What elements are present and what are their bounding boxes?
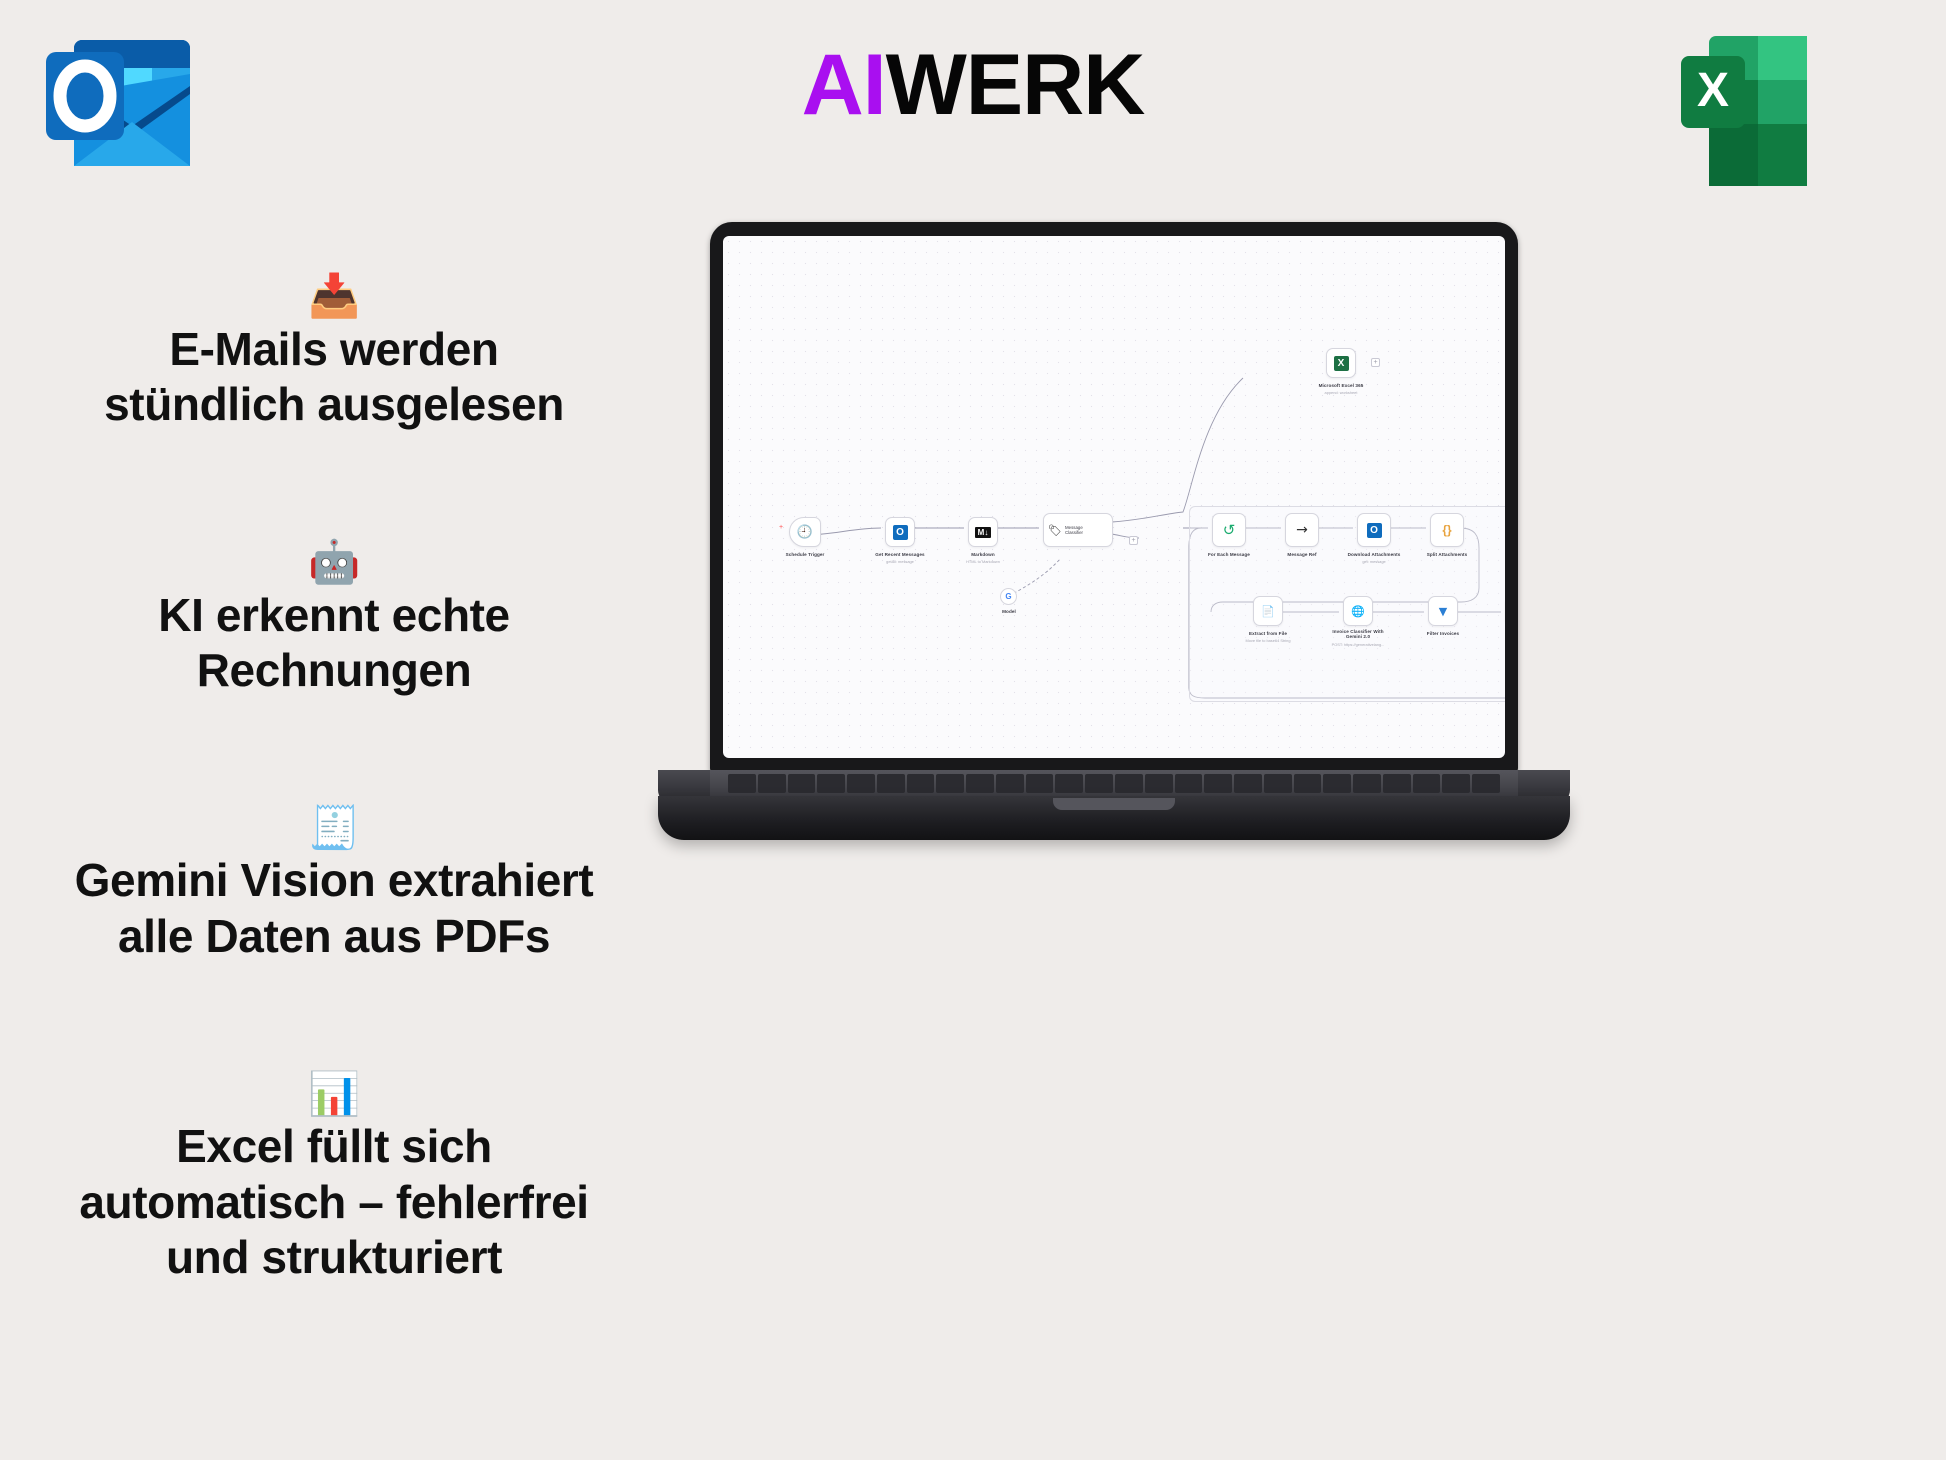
globe-icon: 🌐 (1351, 606, 1365, 617)
inbox-tray-emoji: 📥 (308, 271, 360, 320)
google-gemini-icon: G (1005, 592, 1011, 601)
node-markdown[interactable]: M↓ (968, 517, 998, 547)
feature-bullet-list: 📥 E-Mails werden stündlich ausgelesen 🤖 … (14, 208, 654, 1327)
list-item: 📥 E-Mails werden stündlich ausgelesen (14, 208, 654, 432)
node-label: Filter Invoices (1427, 631, 1459, 636)
node-label: Extract from File (1249, 631, 1287, 636)
laptop-lid: + 🕘 Schedule Trigger Get Recent Messages… (710, 222, 1518, 774)
title-rest: WERK (886, 37, 1145, 133)
node-label: Microsoft Excel 365 (1319, 383, 1364, 388)
node-filter-invoices[interactable]: ▼ (1428, 596, 1458, 626)
node-invoice-classifier-gemini[interactable]: 🌐 (1343, 596, 1373, 626)
add-node-button[interactable]: + (1129, 536, 1138, 545)
node-download-attachments[interactable] (1357, 513, 1391, 547)
node-label: Get Recent Messages (875, 552, 924, 557)
bullet-text: KI erkennt echte Rechnungen (158, 589, 510, 696)
outlook-icon (1367, 523, 1382, 538)
trigger-plus-marker: + (779, 524, 783, 531)
title-accent: AI (802, 37, 886, 133)
node-label: Model (1002, 609, 1016, 614)
markdown-icon: M↓ (975, 527, 992, 538)
node-label: Schedule Trigger (786, 552, 825, 557)
laptop-screen: + 🕘 Schedule Trigger Get Recent Messages… (723, 236, 1505, 758)
node-extract-from-file[interactable]: 📄 (1253, 596, 1283, 626)
bar-chart-emoji: 📊 (308, 1069, 360, 1118)
code-braces-icon: {} (1442, 523, 1451, 537)
macbook-mockup: + 🕘 Schedule Trigger Get Recent Messages… (658, 222, 1570, 862)
node-sublabel: getAll: message (886, 559, 914, 564)
node-sublabel: get: message (1362, 559, 1385, 564)
node-sublabel: append: worksheet (1325, 390, 1358, 395)
node-get-recent-messages[interactable] (885, 517, 915, 547)
receipt-emoji: 🧾 (308, 803, 360, 852)
node-microsoft-excel-365[interactable]: X (1326, 348, 1356, 378)
tag-icon: 🏷 (1048, 525, 1062, 536)
node-label: Split Attachments (1427, 552, 1468, 557)
laptop-notch (1060, 222, 1168, 235)
laptop-trackpad-notch (1053, 798, 1175, 810)
list-item: 🧾 Gemini Vision extrahiert alle Daten au… (14, 740, 654, 964)
node-sublabel: POST: https://generativelang... (1332, 642, 1385, 647)
list-item: 🤖 KI erkennt echte Rechnungen (14, 474, 654, 698)
bullet-text: Gemini Vision extrahiert alle Daten aus … (75, 854, 594, 961)
node-label: Download Attachments (1348, 552, 1401, 557)
keyboard-keys (728, 774, 1500, 793)
node-message-classifier[interactable]: 🏷 Message Classifier (1043, 513, 1113, 547)
node-for-each-message[interactable]: ↺ (1212, 513, 1246, 547)
clock-icon: 🕘 (797, 526, 813, 539)
arrow-right-icon: → (1296, 523, 1308, 537)
outlook-icon (893, 525, 908, 540)
bullet-text: Excel füllt sich automatisch – fehlerfre… (79, 1120, 588, 1282)
node-label: Markdown (971, 552, 995, 557)
node-label: Message Ref (1287, 552, 1316, 557)
node-model[interactable]: G (1000, 588, 1017, 605)
node-label: For Each Message (1208, 552, 1250, 557)
node-split-attachments[interactable]: {} (1430, 513, 1464, 547)
add-node-button[interactable]: + (1371, 358, 1380, 367)
node-sublabel: Move file to base64 String (1246, 638, 1291, 643)
list-item: 📊 Excel füllt sich automatisch – fehlerf… (14, 1006, 654, 1285)
excel-icon: X (1334, 356, 1349, 371)
bullet-text: E-Mails werden stündlich ausgelesen (104, 323, 564, 430)
file-icon: 📄 (1261, 606, 1275, 617)
filter-icon: ▼ (1439, 606, 1447, 617)
loop-icon: ↺ (1223, 523, 1236, 538)
node-label: Invoice Classifier With Gemini 2.0 (1332, 629, 1383, 639)
node-label: Message Classifier (1065, 525, 1083, 536)
node-sublabel: HTML to Markdown (966, 559, 1000, 564)
node-schedule-trigger[interactable]: 🕘 (789, 517, 821, 547)
robot-emoji: 🤖 (308, 537, 360, 586)
node-message-ref[interactable]: → (1285, 513, 1319, 547)
page-title: AIWERK (0, 42, 1946, 128)
n8n-workflow-canvas[interactable]: + 🕘 Schedule Trigger Get Recent Messages… (723, 236, 1505, 758)
